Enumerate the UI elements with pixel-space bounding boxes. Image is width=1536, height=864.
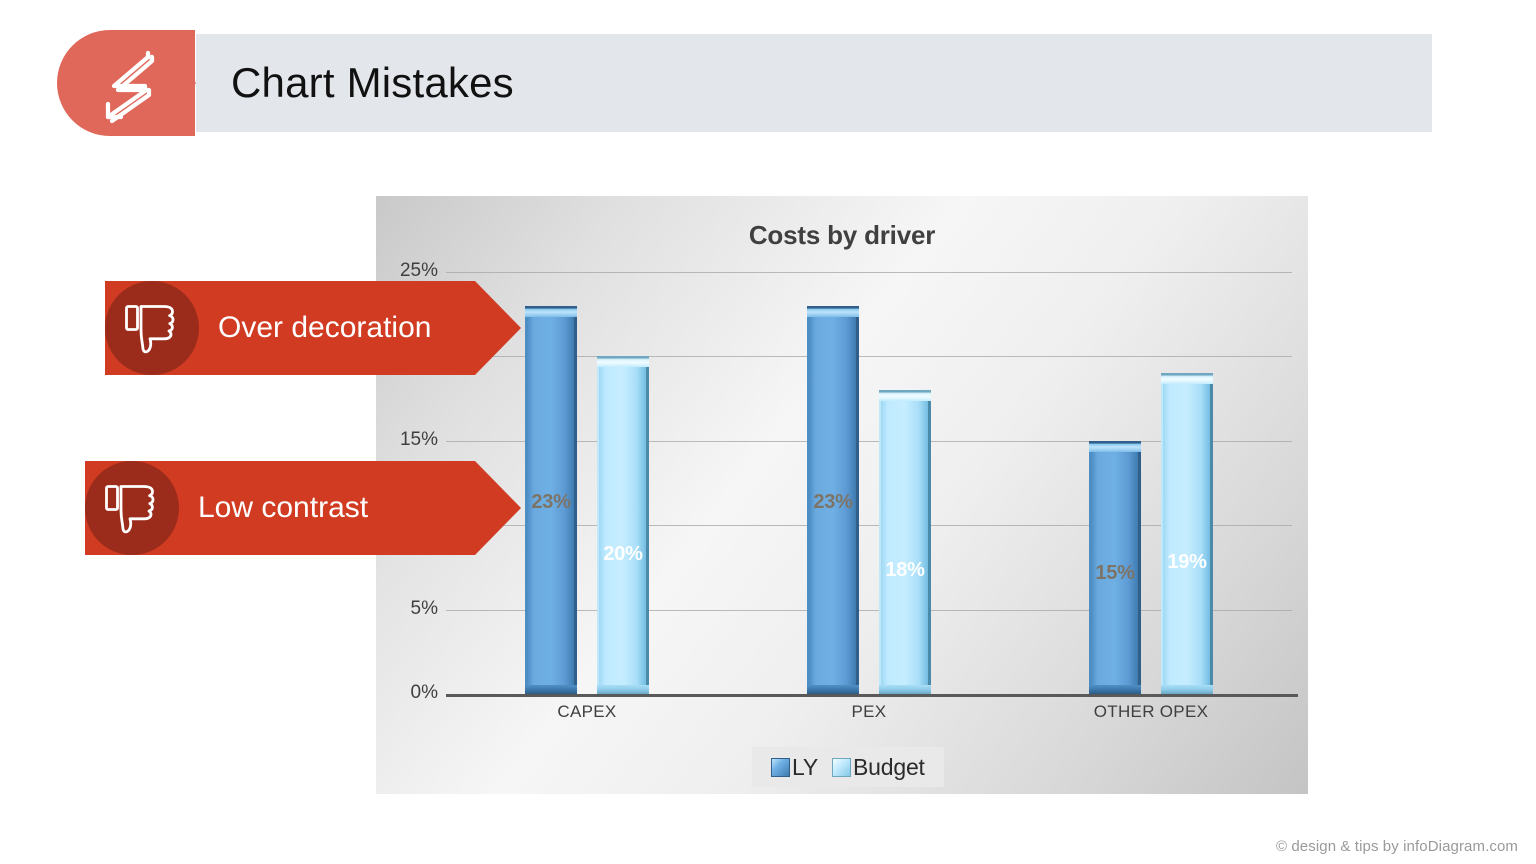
chart-bar-face xyxy=(597,356,649,694)
chart-bar: 18% xyxy=(879,390,931,694)
callout-arrow-point xyxy=(475,281,521,375)
chart-bar: 19% xyxy=(1161,373,1213,694)
x-axis-category-label: PEX xyxy=(728,702,1010,722)
legend-label-budget: Budget xyxy=(853,754,925,781)
y-axis-tick-label: 25% xyxy=(384,260,438,282)
chart-bar-bottom-bevel xyxy=(1161,685,1213,694)
callout-label: Low contrast xyxy=(198,461,368,555)
legend-item-budget[interactable]: Budget xyxy=(832,754,925,781)
chart-bar-value-label: 23% xyxy=(525,491,577,514)
chart-bar-value-label: 23% xyxy=(807,491,859,514)
gridline xyxy=(446,272,1292,273)
chart-bar-value-label: 15% xyxy=(1089,562,1141,585)
chart-bar: 15% xyxy=(1089,441,1141,694)
chart-plot-area: 23%20%23%18%15%19% xyxy=(446,272,1292,694)
chart-bar-bottom-bevel xyxy=(879,685,931,694)
y-axis-tick-label: 5% xyxy=(384,598,438,620)
chart-bar-face xyxy=(1161,373,1213,694)
lightning-bolt-arrow-icon xyxy=(88,44,166,124)
chart-x-axis-line xyxy=(446,694,1298,697)
thumbs-down-icon xyxy=(104,483,160,535)
thumbs-down-icon xyxy=(124,303,180,355)
chart-bar-bottom-bevel xyxy=(807,685,859,694)
chart-bar-value-label: 19% xyxy=(1161,551,1213,574)
chart-bar-top-bevel xyxy=(597,356,649,367)
chart-bar-top-bevel xyxy=(1161,373,1213,384)
chart-bar: 23% xyxy=(807,306,859,694)
chart-bar-value-label: 20% xyxy=(597,543,649,566)
legend-swatch-ly-icon xyxy=(771,758,790,777)
legend-label-ly: LY xyxy=(792,754,818,781)
x-axis-category-label: OTHER OPEX xyxy=(1010,702,1292,722)
chart-bar-top-bevel xyxy=(879,390,931,401)
chart-legend: LY Budget xyxy=(752,747,944,787)
callout-arrow-point xyxy=(475,461,521,555)
chart-bar: 23% xyxy=(525,306,577,694)
chart-bar-bottom-bevel xyxy=(597,685,649,694)
y-axis-tick-label: 15% xyxy=(384,429,438,451)
footer-credit: © design & tips by infoDiagram.com xyxy=(1276,838,1518,855)
chart-bar-top-bevel xyxy=(807,306,859,317)
chart-title: Costs by driver xyxy=(376,220,1308,251)
chart-bar-value-label: 18% xyxy=(879,559,931,582)
chart-bar-top-bevel xyxy=(525,306,577,317)
legend-item-ly[interactable]: LY xyxy=(771,754,818,781)
chart-bar: 20% xyxy=(597,356,649,694)
x-axis-category-label: CAPEX xyxy=(446,702,728,722)
chart-bar-bottom-bevel xyxy=(525,685,577,694)
y-axis-tick-label: 0% xyxy=(384,682,438,704)
chart-bar-face xyxy=(879,390,931,694)
chart-bar-bottom-bevel xyxy=(1089,685,1141,694)
chart-bar-top-bevel xyxy=(1089,441,1141,452)
callout-label: Over decoration xyxy=(218,281,431,375)
page-title: Chart Mistakes xyxy=(231,53,514,113)
slide-header: Chart Mistakes xyxy=(0,0,1536,160)
legend-swatch-budget-icon xyxy=(832,758,851,777)
